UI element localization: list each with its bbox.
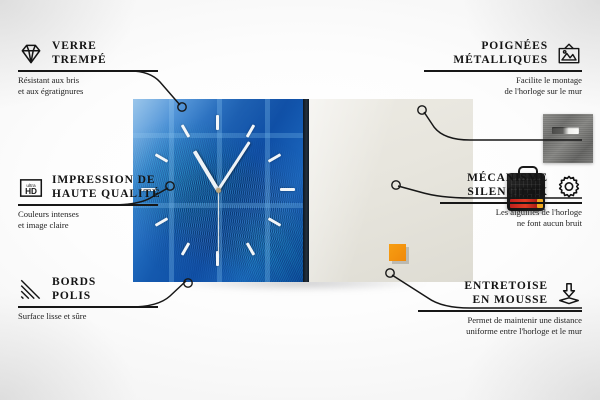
callout-rule [424, 70, 582, 72]
callout-rule [418, 310, 582, 312]
callout-subtitle-line2: et image claire [18, 220, 158, 231]
callout-verre-trempe: VERRE TREMPÉ Résistant aux bris et aux é… [18, 40, 158, 97]
callout-title: VERRE TREMPÉ [52, 40, 107, 67]
callout-rule [18, 306, 158, 308]
callout-subtitle-line1: Les aiguilles de l'horloge [440, 207, 582, 218]
callout-subtitle-line1: Couleurs intenses [18, 209, 158, 220]
callout-mecanisme-silencieux: MÉCANISME SILENCIEUX Les aiguilles de l'… [440, 172, 582, 229]
product-image [133, 99, 473, 282]
callout-title: IMPRESSION DE HAUTE QUALITÉ [52, 174, 161, 201]
callout-header: VERRE TREMPÉ [18, 40, 158, 67]
metal-hanger [543, 114, 593, 163]
callout-title: POIGNÉES MÉTALLIQUES [453, 40, 548, 67]
picture-frame-icon [556, 41, 582, 67]
gear-icon [556, 173, 582, 199]
callout-rule [18, 204, 158, 206]
callout-entretoise-en-mousse: ENTRETOISE EN MOUSSE Permet de maintenir… [418, 280, 582, 337]
infographic-stage: VERRE TREMPÉ Résistant aux bris et aux é… [0, 0, 600, 400]
callout-rule [18, 70, 158, 72]
callout-subtitle-line1: Résistant aux bris [18, 75, 158, 86]
hanger-slot [552, 127, 579, 134]
callout-subtitle-line2: ne font aucun bruit [440, 218, 582, 229]
polished-edge-icon [18, 277, 44, 303]
callout-subtitle-line2: et aux égratignures [18, 86, 158, 97]
callout-title: BORDS POLIS [52, 276, 96, 303]
foam-spacer [389, 244, 406, 261]
callout-poignees-metalliques: POIGNÉES MÉTALLIQUES Facilite le montage… [424, 40, 582, 97]
svg-text:HD: HD [25, 187, 37, 196]
callout-bords-polis: BORDS POLIS Surface lisse et sûre [18, 276, 158, 322]
callout-header: ENTRETOISE EN MOUSSE [418, 280, 582, 307]
callout-header: BORDS POLIS [18, 276, 158, 303]
callout-subtitle-line2: de l'horloge sur le mur [424, 86, 582, 97]
callout-title: MÉCANISME SILENCIEUX [467, 172, 548, 199]
hanger-texture [543, 114, 593, 163]
callout-title: ENTRETOISE EN MOUSSE [464, 280, 548, 307]
callout-subtitle-line2: uniforme entre l'horloge et le mur [418, 326, 582, 337]
callout-header: ultra HD IMPRESSION DE HAUTE QUALITÉ [18, 174, 158, 201]
callout-header: POIGNÉES MÉTALLIQUES [424, 40, 582, 67]
callout-subtitle-line1: Facilite le montage [424, 75, 582, 86]
callout-header: MÉCANISME SILENCIEUX [440, 172, 582, 199]
callout-subtitle-line1: Permet de maintenir une distance [418, 315, 582, 326]
diamond-icon [18, 41, 44, 67]
callout-subtitle-line1: Surface lisse et sûre [18, 311, 158, 322]
ultra-hd-icon: ultra HD [18, 175, 44, 201]
callout-impression-haute-qualite: ultra HD IMPRESSION DE HAUTE QUALITÉ Cou… [18, 174, 158, 231]
callout-rule [440, 202, 582, 204]
press-down-icon [556, 281, 582, 307]
